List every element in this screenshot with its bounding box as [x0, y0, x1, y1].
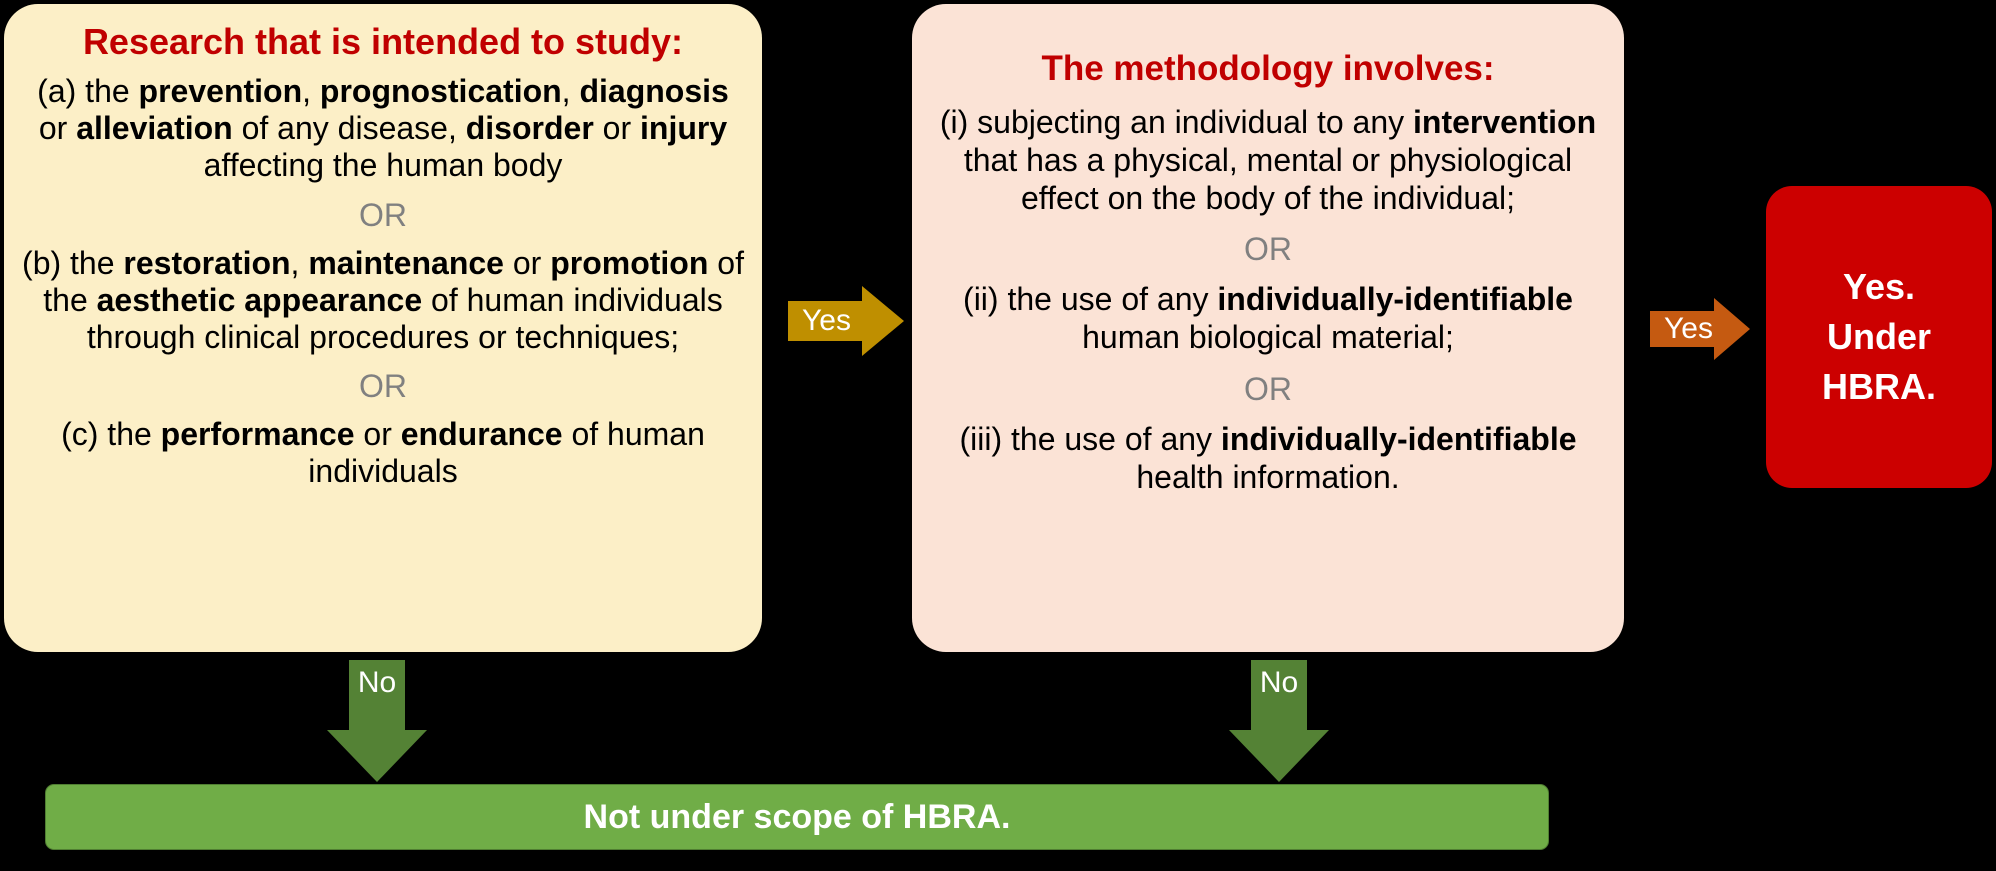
methodology-clause-iii: (iii) the use of any individually-identi…	[930, 421, 1606, 497]
methodology-box-heading: The methodology involves:	[930, 48, 1606, 90]
outcome-line-3: HBRA.	[1822, 362, 1936, 412]
methodology-or-2: OR	[930, 373, 1606, 405]
flowchart-canvas: Research that is intended to study: (a) …	[0, 0, 1996, 871]
down-arrow-icon	[1229, 660, 1329, 782]
outcome-under-hbra-box: Yes. Under HBRA.	[1766, 186, 1992, 488]
research-or-2: OR	[22, 370, 744, 402]
research-clause-b: (b) the restoration, maintenance or prom…	[22, 245, 744, 356]
arrow-no-methodology-to-out-of-scope: No	[1229, 660, 1329, 782]
methodology-or-1: OR	[930, 233, 1606, 265]
down-arrow-icon	[327, 660, 427, 782]
arrow-no-research-to-out-of-scope: No	[327, 660, 427, 782]
arrow-yes-methodology-to-outcome: Yes	[1650, 298, 1750, 360]
research-criteria-box: Research that is intended to study: (a) …	[4, 4, 762, 652]
outcome-line-1: Yes.	[1843, 262, 1915, 312]
arrow-yes-research-to-methodology: Yes	[788, 286, 904, 356]
right-arrow-icon	[1650, 298, 1750, 360]
research-box-heading: Research that is intended to study:	[22, 20, 744, 63]
outcome-not-under-hbra-box: Not under scope of HBRA.	[45, 784, 1549, 850]
methodology-clause-i: (i) subjecting an individual to any inte…	[930, 104, 1606, 217]
research-clause-a: (a) the prevention, prognostication, dia…	[22, 73, 744, 184]
methodology-clause-ii: (ii) the use of any individually-identif…	[930, 281, 1606, 357]
outcome-not-under-hbra-label: Not under scope of HBRA.	[584, 798, 1011, 837]
research-or-1: OR	[22, 199, 744, 231]
methodology-criteria-box: The methodology involves: (i) subjecting…	[912, 4, 1624, 652]
research-clause-c: (c) the performance or endurance of huma…	[22, 416, 744, 490]
right-arrow-icon	[788, 286, 904, 356]
outcome-line-2: Under	[1827, 312, 1931, 362]
